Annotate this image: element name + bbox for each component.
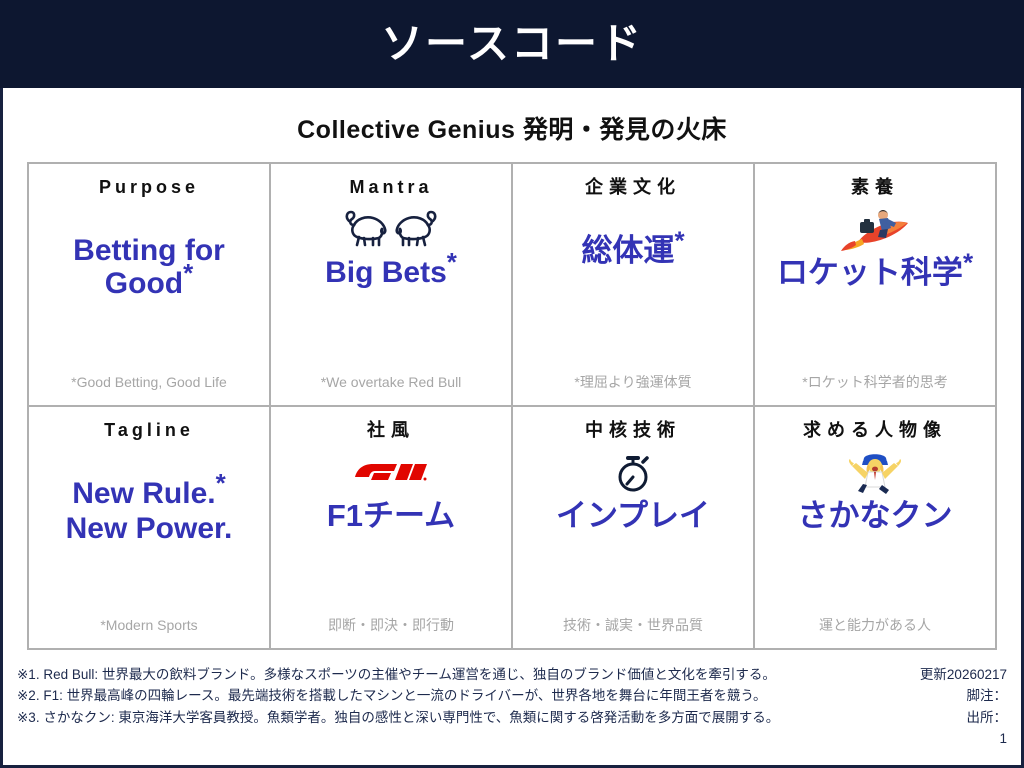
cell-value: New Rule.* (72, 477, 226, 511)
table-row: Tagline New Rule.* New Power. *Modern Sp… (28, 406, 996, 649)
cell-label: 社風 (367, 421, 415, 441)
cell-value: ロケット科学* (777, 256, 973, 291)
cell-value: インプレイ (556, 499, 710, 534)
slide-body: Collective Genius 発明・発見の火床 Purpose Betti… (0, 88, 1024, 768)
footnote-3: ※3. さかなクン: 東京海洋大学客員教授。魚類学者。独自の感性と深い専門性で、… (17, 707, 779, 728)
cell-label: Tagline (104, 421, 194, 441)
matrix-cell-corporate-culture[interactable]: 企業文化 総体運* *理屈より強運体質 (512, 163, 754, 406)
cell-note: 技術・誠実・世界品質 (563, 617, 703, 638)
f1-logo-icon (353, 447, 429, 497)
cell-label: 企業文化 (585, 178, 681, 198)
cell-value: Big Bets* (325, 256, 457, 290)
culture-matrix-table: Purpose Betting for Good* *Good Betting,… (27, 162, 997, 650)
cell-value: さかなクン (798, 499, 953, 534)
matrix-cell-ideal-person[interactable]: 求める人物像 (754, 406, 996, 649)
meta-block: 更新20260217 脚注： 出所： 1 (910, 664, 1007, 749)
cell-note: *We overtake Red Bull (321, 374, 462, 395)
asterisk: * (216, 468, 226, 498)
asterisk: * (963, 247, 973, 277)
cell-label: Purpose (99, 178, 199, 198)
matrix-cell-purpose[interactable]: Purpose Betting for Good* *Good Betting,… (28, 163, 270, 406)
asterisk: * (183, 258, 193, 288)
cell-note: 即断・即決・即行動 (328, 617, 454, 638)
footnote-1: ※1. Red Bull: 世界最大の飲料ブランド。多様なスポーツの主催やチーム… (17, 664, 779, 685)
matrix-wrapper: Purpose Betting for Good* *Good Betting,… (3, 162, 1021, 650)
page-number: 1 (920, 728, 1007, 749)
cell-label: 求める人物像 (803, 421, 947, 441)
cell-value-line2: New Power. (66, 512, 233, 546)
cell-label: 中核技術 (585, 421, 681, 441)
matrix-cell-competency[interactable]: 素養 (754, 163, 996, 406)
matrix-cell-work-style[interactable]: 社風 F1チー (270, 406, 512, 649)
asterisk: * (674, 225, 684, 255)
cell-note: *ロケット科学者的思考 (802, 374, 947, 395)
page-title: ソースコード (381, 23, 643, 65)
person-cheering-icon (842, 447, 908, 497)
asterisk: * (447, 247, 457, 277)
bulls-icon (337, 204, 445, 254)
matrix-cell-core-technology[interactable]: 中核技術 イン (512, 406, 754, 649)
cell-note: 運と能力がある人 (819, 617, 931, 638)
slide: ソースコード Collective Genius 発明・発見の火床 Purpos… (0, 0, 1024, 768)
matrix-cell-mantra[interactable]: Mantra (270, 163, 512, 406)
matrix-cell-tagline[interactable]: Tagline New Rule.* New Power. *Modern Sp… (28, 406, 270, 649)
table-row: Purpose Betting for Good* *Good Betting,… (28, 163, 996, 406)
cell-label: Mantra (349, 178, 432, 198)
cell-note: *Modern Sports (100, 617, 197, 638)
subtitle: Collective Genius 発明・発見の火床 (3, 88, 1021, 162)
cell-value: Betting for Good* (35, 234, 263, 301)
cell-value: F1チーム (327, 499, 455, 534)
footnote-2: ※2. F1: 世界最高峰の四輪レース。最先端技術を搭載したマシンと一流のドライ… (17, 685, 779, 706)
source-label: 出所： (920, 707, 1007, 728)
cell-label: 素養 (851, 178, 899, 198)
cell-note: *理屈より強運体質 (574, 374, 691, 395)
footer: ※1. Red Bull: 世界最大の飲料ブランド。多様なスポーツの主催やチーム… (3, 650, 1021, 765)
stopwatch-icon (612, 447, 654, 497)
updated-date: 更新20260217 (920, 664, 1007, 685)
cell-note: *Good Betting, Good Life (71, 374, 227, 395)
header-band: ソースコード (0, 0, 1024, 88)
footnotes-block: ※1. Red Bull: 世界最大の飲料ブランド。多様なスポーツの主催やチーム… (17, 664, 779, 728)
cell-value: 総体運* (581, 234, 684, 269)
footnote-label: 脚注： (920, 685, 1007, 706)
rocket-businessman-icon (838, 204, 912, 254)
